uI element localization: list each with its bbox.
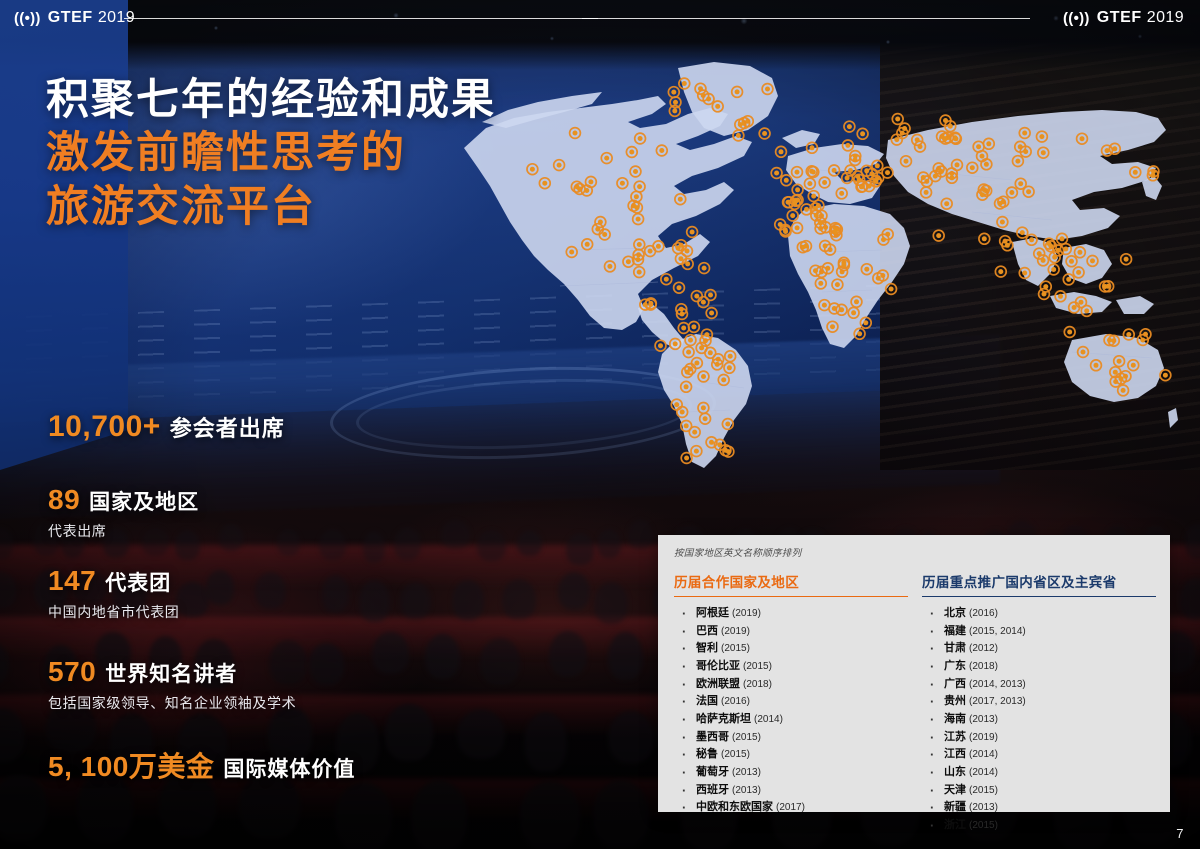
list-item-name: 葡萄牙 <box>696 766 729 778</box>
map-marker-dot <box>1022 131 1027 136</box>
map-marker-dot <box>943 136 948 141</box>
map-marker-dot <box>704 332 709 337</box>
map-marker-dot <box>795 187 800 192</box>
map-marker-dot <box>1076 270 1081 275</box>
map-marker-dot <box>804 207 809 212</box>
stat-label: 参会者出席 <box>170 411 285 443</box>
map-marker-dot <box>1041 150 1046 155</box>
stat-number: 5, 100万美金 <box>48 745 214 785</box>
map-marker-dot <box>823 243 828 248</box>
list-item-name: 阿根廷 <box>696 607 729 619</box>
list-item-name: 西班牙 <box>696 784 729 796</box>
map-marker-dot <box>924 190 929 195</box>
map-marker-dot <box>875 163 880 168</box>
list-item-years: (2013) <box>969 714 998 725</box>
map-marker-dot <box>569 250 574 255</box>
list-item-years: (2012) <box>969 643 998 654</box>
list-item: 广西(2014, 2013) <box>922 677 1156 692</box>
list-item: 甘肃(2012) <box>922 641 1156 656</box>
list-item-years: (2015) <box>732 732 761 743</box>
list-item: 秘鲁(2015) <box>674 747 908 762</box>
map-marker-dot <box>672 108 677 113</box>
map-marker-dot <box>685 249 690 254</box>
list-item-years: (2017) <box>776 802 805 813</box>
map-marker-dot <box>1081 350 1086 355</box>
signal-icon: ((•)) <box>14 11 41 26</box>
header-bar: ((•)) GTEF 2019 ((•)) GTEF 2019 <box>0 0 1200 38</box>
map-marker-dot <box>648 249 653 254</box>
map-marker-dot <box>904 159 909 164</box>
stat-number: 147 <box>48 565 96 597</box>
map-marker-dot <box>658 343 663 348</box>
stat-sub: 代表出席 <box>48 521 508 541</box>
map-marker-dot <box>636 217 641 222</box>
list-item-years: (2014) <box>969 767 998 778</box>
map-marker-dot <box>864 267 869 272</box>
map-marker-dot <box>1150 173 1155 178</box>
map-marker-dot <box>685 370 690 375</box>
map-marker-dot <box>620 181 625 186</box>
partner-country-list: 阿根廷(2019)巴西(2019)智利(2015)哥伦比亚(2015)欧洲联盟(… <box>674 606 908 816</box>
map-marker-dot <box>794 198 799 203</box>
map-marker-dot <box>1039 134 1044 139</box>
list-item-name: 智利 <box>696 642 718 654</box>
map-marker-dot <box>638 136 643 141</box>
map-marker-dot <box>810 145 815 150</box>
statistics-block: 10,700+ 参会者出席 89 国家及地区 代表出席 147 代表团 中国内地… <box>48 410 508 785</box>
list-item: 贵州(2017, 2013) <box>922 694 1156 709</box>
world-map-overlay <box>452 52 1178 472</box>
brand-name: GTEF <box>48 10 93 26</box>
map-marker-dot <box>1131 363 1136 368</box>
list-item-years: (2015) <box>743 661 772 672</box>
map-marker-dot <box>673 100 678 105</box>
map-marker-dot <box>853 154 858 159</box>
map-marker-dot <box>585 242 590 247</box>
list-item-years: (2015) <box>721 749 750 760</box>
list-item-years: (2019) <box>732 608 761 619</box>
list-item-years: (2013) <box>969 802 998 813</box>
list-item: 广东(2018) <box>922 659 1156 674</box>
map-marker-dot <box>779 149 784 154</box>
map-marker-dot <box>671 90 676 95</box>
map-marker-dot <box>681 326 686 331</box>
audience-head <box>1180 578 1200 620</box>
audience-head <box>520 781 580 849</box>
list-item-years: (2018) <box>743 679 772 690</box>
audience-head <box>608 711 654 764</box>
map-marker-dot <box>857 177 862 182</box>
list-item: 北京(2016) <box>922 606 1156 621</box>
stat-item-delegations: 147 代表团 中国内地省市代表团 <box>48 565 508 622</box>
list-item-years: (2013) <box>732 767 761 778</box>
map-marker-dot <box>634 205 639 210</box>
list-item-years: (2017, 2013) <box>969 696 1026 707</box>
map-marker-dot <box>1009 190 1014 195</box>
map-marker-dot <box>949 175 954 180</box>
map-marker-dot <box>953 136 958 141</box>
map-marker-dot <box>715 362 720 367</box>
map-marker-dot <box>839 307 844 312</box>
map-marker-dot <box>1058 294 1063 299</box>
map-marker-dot <box>680 312 685 317</box>
map-marker-dot <box>783 229 788 234</box>
map-marker-dot <box>845 176 850 181</box>
map-marker-dot <box>807 181 812 186</box>
map-marker-dot <box>735 89 740 94</box>
stat-number: 570 <box>48 656 96 688</box>
list-item: 巴西(2019) <box>674 624 908 639</box>
map-marker-dot <box>1069 259 1074 264</box>
map-marker-dot <box>680 410 685 415</box>
map-marker-dot <box>708 350 713 355</box>
map-marker-dot <box>1124 257 1129 262</box>
map-marker-dot <box>604 156 609 161</box>
headline-line-2: 激发前瞻性思考的 <box>46 127 496 180</box>
list-item-name: 山东 <box>944 766 966 778</box>
list-item-name: 江苏 <box>944 731 966 743</box>
stat-label: 代表团 <box>105 567 171 597</box>
map-marker-dot <box>708 293 713 298</box>
map-marker-dot <box>636 257 641 262</box>
map-marker-dot <box>825 266 830 271</box>
map-marker-dot <box>678 197 683 202</box>
map-marker-dot <box>895 117 900 122</box>
map-marker-dot <box>725 422 730 427</box>
header-rule-left <box>124 18 598 19</box>
map-marker-dot <box>1126 332 1131 337</box>
panel-columns: 历届合作国家及地区 阿根廷(2019)巴西(2019)智利(2015)哥伦比亚(… <box>674 571 1156 836</box>
map-marker-dot <box>709 311 714 316</box>
map-marker-dot <box>1041 258 1046 263</box>
map-marker-dot <box>626 259 631 264</box>
map-marker-dot <box>637 184 642 189</box>
map-marker-dot <box>676 246 681 251</box>
audience-head <box>517 530 542 556</box>
map-marker-dot <box>818 220 823 225</box>
headline-line-3: 旅游交流平台 <box>46 181 496 234</box>
signal-icon: ((•)) <box>1063 11 1090 26</box>
map-marker-dot <box>728 354 733 359</box>
map-marker-dot <box>607 264 612 269</box>
stat-label: 世界知名讲者 <box>105 658 237 688</box>
map-marker-dot <box>845 143 850 148</box>
header-rule-right <box>582 18 1030 19</box>
map-marker-dot <box>677 285 682 290</box>
map-marker-dot <box>1063 247 1068 252</box>
map-marker-dot <box>721 377 726 382</box>
map-marker-dot <box>976 144 981 149</box>
map-marker-dot <box>784 178 789 183</box>
list-item: 中欧和东欧国家(2017) <box>674 800 908 815</box>
map-marker-dot <box>715 104 720 109</box>
list-item: 欧洲联盟(2018) <box>674 677 908 692</box>
map-marker-dot <box>822 303 827 308</box>
map-marker-dot <box>970 165 975 170</box>
map-marker-dot <box>637 270 642 275</box>
map-marker-dot <box>864 168 869 173</box>
map-marker-dot <box>841 263 846 268</box>
stat-number: 89 <box>48 484 80 516</box>
map-marker-dot <box>643 302 648 307</box>
map-marker-dot <box>674 402 679 407</box>
map-marker-dot <box>921 175 926 180</box>
list-item: 西班牙(2013) <box>674 783 908 798</box>
map-marker-dot <box>980 192 985 197</box>
map-marker-dot <box>1018 181 1023 186</box>
list-item-name: 广东 <box>944 660 966 672</box>
map-marker-dot <box>706 97 711 102</box>
map-marker-dot <box>1094 363 1099 368</box>
audience-head <box>549 631 587 677</box>
list-item: 葡萄牙(2013) <box>674 765 908 780</box>
map-marker-dot <box>573 131 578 136</box>
map-marker-dot <box>863 320 868 325</box>
map-marker-dot <box>1047 241 1052 246</box>
map-marker-dot <box>1066 277 1071 282</box>
logo-right: ((•)) GTEF 2019 <box>1063 10 1184 26</box>
map-marker-dot <box>876 276 881 281</box>
map-marker-dot <box>694 294 699 299</box>
list-item-name: 哥伦比亚 <box>696 660 740 672</box>
map-marker-dot <box>980 154 985 159</box>
list-item: 福建(2015, 2014) <box>922 624 1156 639</box>
map-marker-dot <box>1043 284 1048 289</box>
list-item-years: (2019) <box>969 732 998 743</box>
map-landmasses <box>464 62 1178 468</box>
list-item-name: 广西 <box>944 678 966 690</box>
map-marker-dot <box>595 227 600 232</box>
stat-sub: 中国内地省市代表团 <box>48 602 508 622</box>
stat-item-media-value: 5, 100万美金 国际媒体价值 <box>48 745 508 785</box>
map-marker-dot <box>694 361 699 366</box>
map-marker-dot <box>795 170 800 175</box>
map-marker-dot <box>822 180 827 185</box>
map-marker-dot <box>1072 305 1077 310</box>
list-item-name: 贵州 <box>944 695 966 707</box>
map-marker-dot <box>998 201 1003 206</box>
slide: ((•)) GTEF 2019 ((•)) GTEF 2019 积聚七年的经验和… <box>0 0 1200 849</box>
map-marker-dot <box>1029 237 1034 242</box>
audience-head <box>628 520 653 549</box>
list-item: 天津(2015) <box>922 783 1156 798</box>
map-marker-dot <box>902 126 907 131</box>
map-marker-dot <box>684 456 689 461</box>
list-item-name: 海南 <box>944 713 966 725</box>
map-marker-dot <box>682 81 687 86</box>
map-marker-dot <box>701 374 706 379</box>
list-item-years: (2015) <box>969 820 998 831</box>
map-marker-dot <box>832 168 837 173</box>
map-marker-dot <box>738 122 743 127</box>
map-marker-dot <box>795 225 800 230</box>
map-marker-dot <box>1140 338 1145 343</box>
audience-head <box>335 782 392 849</box>
map-marker-dot <box>881 237 886 242</box>
map-marker-dot <box>1079 300 1084 305</box>
list-item-years: (2013) <box>732 785 761 796</box>
list-item-name: 哈萨克斯坦 <box>696 713 751 725</box>
map-marker-dot <box>1090 258 1095 263</box>
list-item: 阿根廷(2019) <box>674 606 908 621</box>
list-item-name: 新疆 <box>944 801 966 813</box>
list-item: 江西(2014) <box>922 747 1156 762</box>
audience-head <box>593 780 649 849</box>
list-item-years: (2019) <box>721 626 750 637</box>
map-marker-dot <box>885 170 890 175</box>
map-marker-dot <box>830 324 835 329</box>
audience-head <box>597 529 621 558</box>
map-marker-dot <box>637 242 642 247</box>
list-item: 江苏(2019) <box>922 730 1156 745</box>
headline-block: 积聚七年的经验和成果 激发前瞻性思考的 旅游交流平台 <box>46 74 496 234</box>
list-item-years: (2015, 2014) <box>969 626 1026 637</box>
map-marker-dot <box>818 281 823 286</box>
map-marker-dot <box>915 137 920 142</box>
map-marker-dot <box>851 310 856 315</box>
headline-line-1: 积聚七年的经验和成果 <box>46 74 496 127</box>
map-marker-dot <box>1117 359 1122 364</box>
list-item-name: 天津 <box>944 784 966 796</box>
map-marker-dot <box>1060 236 1065 241</box>
list-item-name: 巴西 <box>696 625 718 637</box>
stat-label: 国际媒体价值 <box>223 753 355 783</box>
brand-name: GTEF <box>1097 10 1142 26</box>
map-marker-dot <box>762 131 767 136</box>
map-marker-dot <box>1000 220 1005 225</box>
list-item-name: 法国 <box>696 695 718 707</box>
map-marker-dot <box>557 163 562 168</box>
map-marker-dot <box>1084 308 1089 313</box>
list-item-name: 福建 <box>944 625 966 637</box>
map-marker-dot <box>1105 148 1110 153</box>
audience-head <box>558 572 590 610</box>
list-item-name: 墨西哥 <box>696 731 729 743</box>
column-title: 历届合作国家及地区 <box>674 571 908 597</box>
stat-label: 国家及地区 <box>89 486 199 516</box>
map-marker-dot <box>811 170 816 175</box>
map-marker-dot <box>933 174 938 179</box>
map-marker-dot <box>984 162 989 167</box>
map-marker-dot <box>936 233 941 238</box>
logo-left: ((•)) GTEF 2019 <box>14 10 135 26</box>
list-item-name: 浙江 <box>944 819 966 831</box>
map-marker-dot <box>1051 267 1056 272</box>
map-marker-dot <box>1022 271 1027 276</box>
audience-head <box>524 712 567 772</box>
audience-head <box>566 533 594 565</box>
map-marker-dot <box>688 338 693 343</box>
map-marker-dot <box>726 449 731 454</box>
stat-item-countries: 89 国家及地区 代表出席 <box>48 484 508 541</box>
map-marker-dot <box>1119 376 1124 381</box>
map-marker-dot <box>584 188 589 193</box>
brand-year: 2019 <box>1147 10 1184 26</box>
map-marker-dot <box>944 201 949 206</box>
map-marker-dot <box>1005 243 1010 248</box>
province-list: 北京(2016)福建(2015, 2014)甘肃(2012)广东(2018)广西… <box>922 606 1156 833</box>
panel-column-partner-countries: 历届合作国家及地区 阿根廷(2019)巴西(2019)智利(2015)哥伦比亚(… <box>674 571 908 836</box>
map-marker-dot <box>702 266 707 271</box>
list-item-years: (2015) <box>721 643 750 654</box>
map-marker-dot <box>588 179 593 184</box>
list-item: 智利(2015) <box>674 641 908 656</box>
map-marker-dot <box>542 181 547 186</box>
panel-note: 按国家地区英文名称顺序排列 <box>674 545 801 559</box>
list-item-years: (2016) <box>969 608 998 619</box>
map-marker-dot <box>765 87 770 92</box>
list-item-years: (2018) <box>969 661 998 672</box>
map-marker-dot <box>686 350 691 355</box>
list-item-name: 北京 <box>944 607 966 619</box>
map-marker-dot <box>691 324 696 329</box>
map-marker-dot <box>659 148 664 153</box>
list-item: 山东(2014) <box>922 765 1156 780</box>
map-marker-dot <box>1121 388 1126 393</box>
list-item: 哈萨克斯坦(2014) <box>674 712 908 727</box>
map-marker-dot <box>811 194 816 199</box>
list-item-years: (2014) <box>754 714 783 725</box>
info-panel: 按国家地区英文名称顺序排列 历届合作国家及地区 阿根廷(2019)巴西(2019… <box>658 535 1170 812</box>
map-marker-dot <box>982 236 987 241</box>
map-marker-dot <box>701 300 706 305</box>
map-marker-dot <box>1023 149 1028 154</box>
left-blue-wedge <box>0 0 128 470</box>
list-item-years: (2014) <box>969 749 998 760</box>
map-marker-dot <box>692 430 697 435</box>
map-marker-dot <box>790 213 795 218</box>
list-item-years: (2014, 2013) <box>969 679 1026 690</box>
map-marker-dot <box>835 282 840 287</box>
list-item: 哥伦比亚(2015) <box>674 659 908 674</box>
map-marker-dot <box>690 230 695 235</box>
audience-head <box>1185 524 1200 559</box>
list-item: 海南(2013) <box>922 712 1156 727</box>
list-item-name: 甘肃 <box>944 642 966 654</box>
map-marker-dot <box>684 384 689 389</box>
map-marker-dot <box>602 232 607 237</box>
map-marker-dot <box>1080 136 1085 141</box>
map-marker-dot <box>530 167 535 172</box>
map-marker-dot <box>1026 189 1031 194</box>
list-item: 浙江(2015) <box>922 818 1156 833</box>
audience-head <box>608 632 643 680</box>
map-marker-dot <box>1015 159 1020 164</box>
map-marker-dot <box>889 287 894 292</box>
list-item-name: 欧洲联盟 <box>696 678 740 690</box>
map-marker-dot <box>1052 255 1057 260</box>
map-marker-dot <box>709 440 714 445</box>
list-item-years: (2015) <box>969 785 998 796</box>
column-title: 历届重点推广国内省区及主宾省 <box>922 571 1156 597</box>
stat-item-attendees: 10,700+ 参会者出席 <box>48 410 508 444</box>
list-item-years: (2016) <box>721 696 750 707</box>
map-marker-dot <box>998 269 1003 274</box>
map-marker-dot <box>1103 284 1108 289</box>
stat-item-speakers: 570 世界知名讲者 包括国家级领导、知名企业领袖及学术 <box>48 656 508 713</box>
map-marker-dot <box>633 169 638 174</box>
audience-head <box>411 780 467 849</box>
list-item-name: 江西 <box>944 748 966 760</box>
list-item-name: 中欧和东欧国家 <box>696 801 773 813</box>
map-marker-dot <box>774 171 779 176</box>
map-marker-dot <box>717 442 722 447</box>
map-marker-dot <box>736 133 741 138</box>
map-marker-dot <box>673 341 678 346</box>
panel-column-provinces: 历届重点推广国内省区及主宾省 北京(2016)福建(2015, 2014)甘肃(… <box>922 571 1156 836</box>
map-marker-dot <box>1077 250 1082 255</box>
list-item-name: 秘鲁 <box>696 748 718 760</box>
